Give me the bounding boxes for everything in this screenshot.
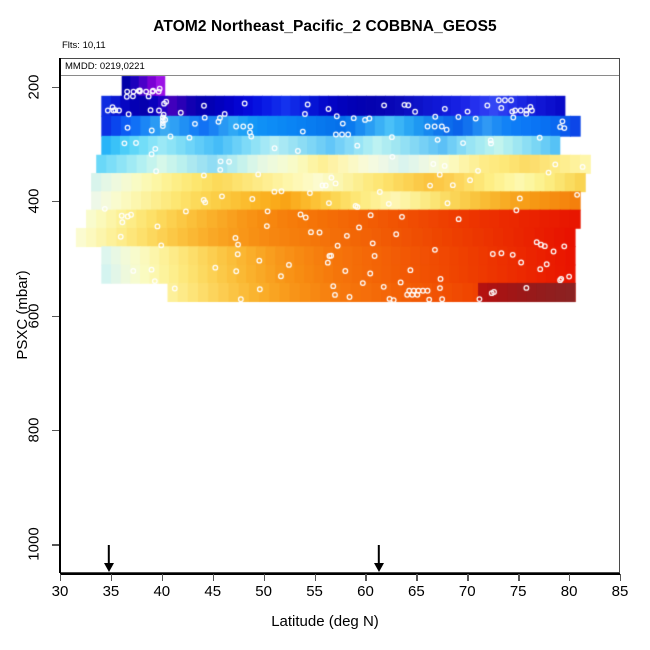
x-tick-label: 75 [510,583,527,600]
x-tick [60,574,61,581]
x-axis-line [60,573,620,575]
y-tick-label: 800 [26,417,43,442]
mmdd-label: MMDD: 0219,0221 [61,59,619,76]
page-title: ATOM2 Northeast_Pacific_2 COBBNA_GEOS5 [0,18,650,36]
y-tick-label: 400 [26,189,43,214]
x-tick [467,574,468,581]
x-tick [365,574,366,581]
x-tick [162,574,163,581]
x-tick-label: 30 [52,583,69,600]
x-tick-label: 45 [204,583,221,600]
x-tick-label: 55 [306,583,323,600]
x-tick [518,574,519,581]
x-tick [569,574,570,581]
y-tick [52,544,59,545]
y-tick [52,87,59,88]
x-tick-label: 40 [153,583,170,600]
x-tick [416,574,417,581]
x-axis-title: Latitude (deg N) [0,613,650,630]
x-tick-label: 65 [408,583,425,600]
y-tick [52,430,59,431]
y-axis-line [59,58,61,573]
flights-label: Flts: 10,11 [62,40,106,51]
x-tick [620,574,621,581]
figure-root: ATOM2 Northeast_Pacific_2 COBBNA_GEOS5 F… [0,0,650,650]
x-tick [264,574,265,581]
x-tick [213,574,214,581]
x-tick-label: 80 [561,583,578,600]
y-axis-title: PSXC (mbar) [14,270,31,359]
x-tick [315,574,316,581]
latitude-marker-arrow [373,545,385,573]
plot-frame: MMDD: 0219,0221 [60,58,620,573]
x-tick-label: 35 [103,583,120,600]
x-tick-label: 85 [612,583,629,600]
y-tick-label: 1000 [26,528,43,561]
x-tick [111,574,112,581]
x-tick-label: 60 [357,583,374,600]
y-tick [52,201,59,202]
x-tick-label: 50 [255,583,272,600]
heatmap-canvas [61,59,619,572]
y-tick [52,316,59,317]
y-tick-label: 200 [26,74,43,99]
x-tick-label: 70 [459,583,476,600]
latitude-marker-arrow [103,545,115,573]
